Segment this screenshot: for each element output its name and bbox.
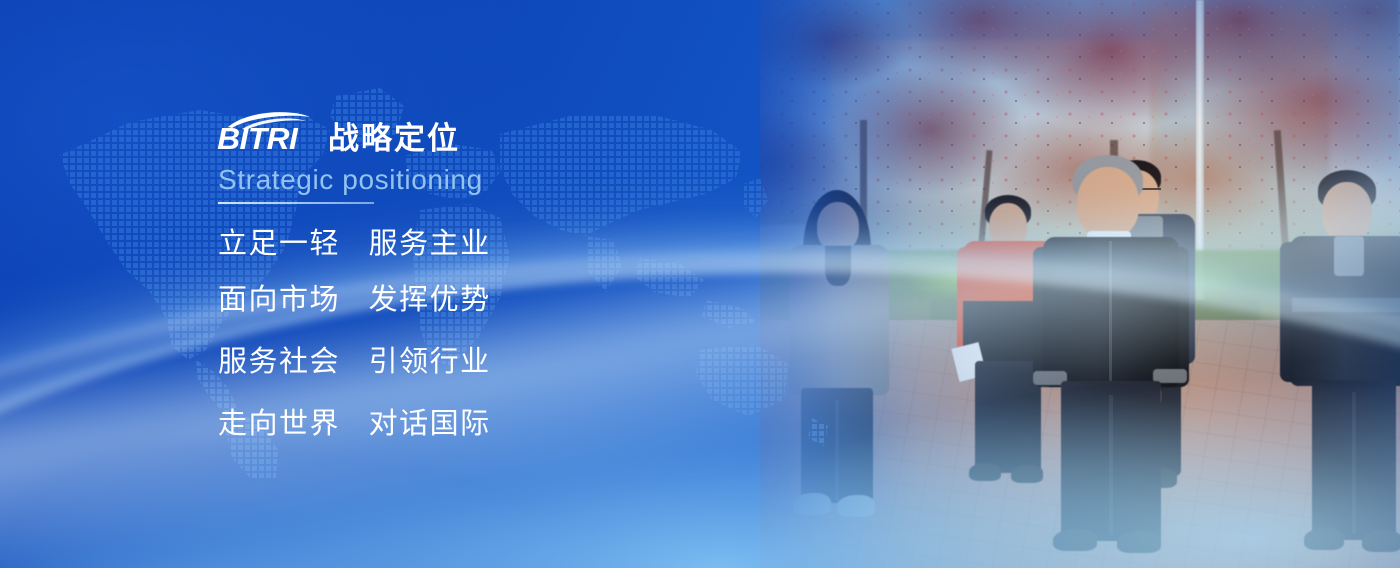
banner-subtitle-en: Strategic positioning — [218, 165, 778, 194]
banner-title-cn: 战略定位 — [328, 123, 460, 156]
brand-row: BITRI 战略定位 — [218, 108, 778, 156]
slogan-line-1: 立足一轻 服务主业 — [218, 220, 778, 262]
bitri-logo[interactable]: BITRI — [218, 110, 314, 156]
slogan-line-4: 走向世界 对话国际 — [218, 400, 778, 442]
slogan-list: 立足一轻 服务主业 面向市场 发挥优势 服务社会 引领行业 走向世界 对话国际 — [218, 220, 778, 442]
slogan-line-3: 服务社会 引领行业 — [218, 338, 778, 380]
strategic-positioning-banner: BITRI 战略定位 Strategic positioning 立足一轻 服务… — [0, 0, 1400, 568]
title-divider — [218, 202, 374, 204]
banner-text-block: BITRI 战略定位 Strategic positioning 立足一轻 服务… — [218, 108, 778, 442]
bitri-logo-text: BITRI — [217, 123, 297, 154]
slogan-line-2: 面向市场 发挥优势 — [218, 276, 778, 318]
